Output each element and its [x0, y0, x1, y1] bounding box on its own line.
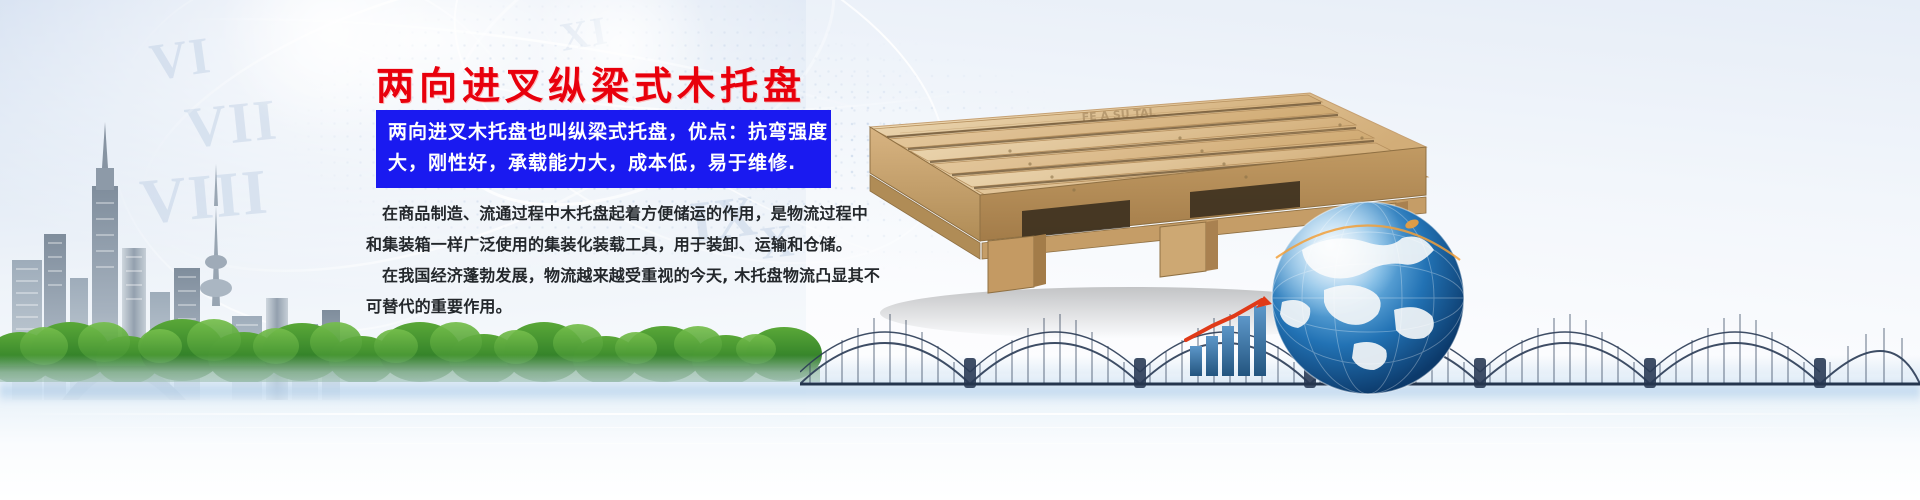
water-streak-2: [0, 427, 1920, 428]
earth-globe-graphic: [1262, 198, 1474, 410]
paragraph-line-3: 在我国经济蓬勃发展，物流越来越受重视的今天, 木托盘物流凸显其不: [366, 260, 886, 291]
paragraph-line-4: 可替代的重要作用。: [366, 291, 886, 322]
watermark-numeral-viii: VIII: [137, 155, 272, 240]
highlight-callout-box: 两向进叉木托盘也叫纵梁式托盘，优点：抗弯强度 大，刚性好，承载能力大，成本低，易…: [376, 110, 831, 188]
promotional-banner: VI VII VIII IX X XI: [0, 0, 1920, 500]
paragraph-line-1: 在商品制造、流通过程中木托盘起着方便储运的作用，是物流过程中: [366, 198, 886, 229]
description-paragraph: 在商品制造、流通过程中木托盘起着方便储运的作用，是物流过程中 和集装箱一样广泛使…: [366, 198, 886, 322]
water-streak-1: [0, 413, 1920, 415]
paragraph-line-2: 和集装箱一样广泛使用的集装化装载工具，用于装卸、运输和仓储。: [366, 229, 886, 260]
watermark-numeral-xi: XI: [556, 6, 612, 61]
water-reflection-band: [0, 355, 1920, 500]
watermark-numeral-vii: VII: [182, 85, 282, 161]
watermark-numeral-vi: VI: [146, 26, 215, 93]
highlight-line-2: 大，刚性好，承载能力大，成本低，易于维修.: [388, 148, 821, 179]
water-streak-3: [0, 443, 1920, 444]
page-title: 两向进叉纵梁式木托盘: [376, 55, 806, 110]
highlight-line-1: 两向进叉木托盘也叫纵梁式托盘，优点：抗弯强度: [388, 117, 821, 148]
water-blue-haze: [0, 378, 1920, 404]
